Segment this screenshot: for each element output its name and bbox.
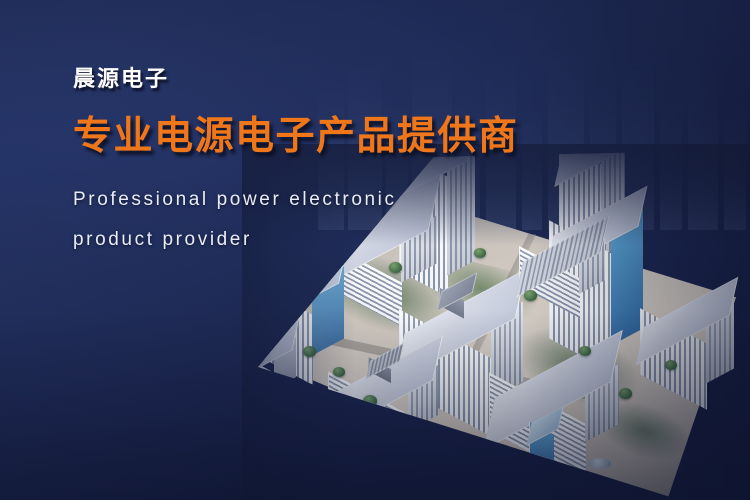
subtitle-line-2: product provider [73, 220, 519, 260]
banner-copy: 晨源电子 专业电源电子产品提供商 Professional power elec… [73, 64, 519, 260]
hero-banner: 晨源电子 专业电源电子产品提供商 Professional power elec… [0, 0, 750, 500]
company-name: 晨源电子 [73, 64, 519, 94]
headline-chinese: 专业电源电子产品提供商 [73, 114, 519, 160]
subtitle-line-1: Professional power electronic [73, 180, 519, 220]
subtitle-english: Professional power electronic product pr… [73, 180, 519, 260]
